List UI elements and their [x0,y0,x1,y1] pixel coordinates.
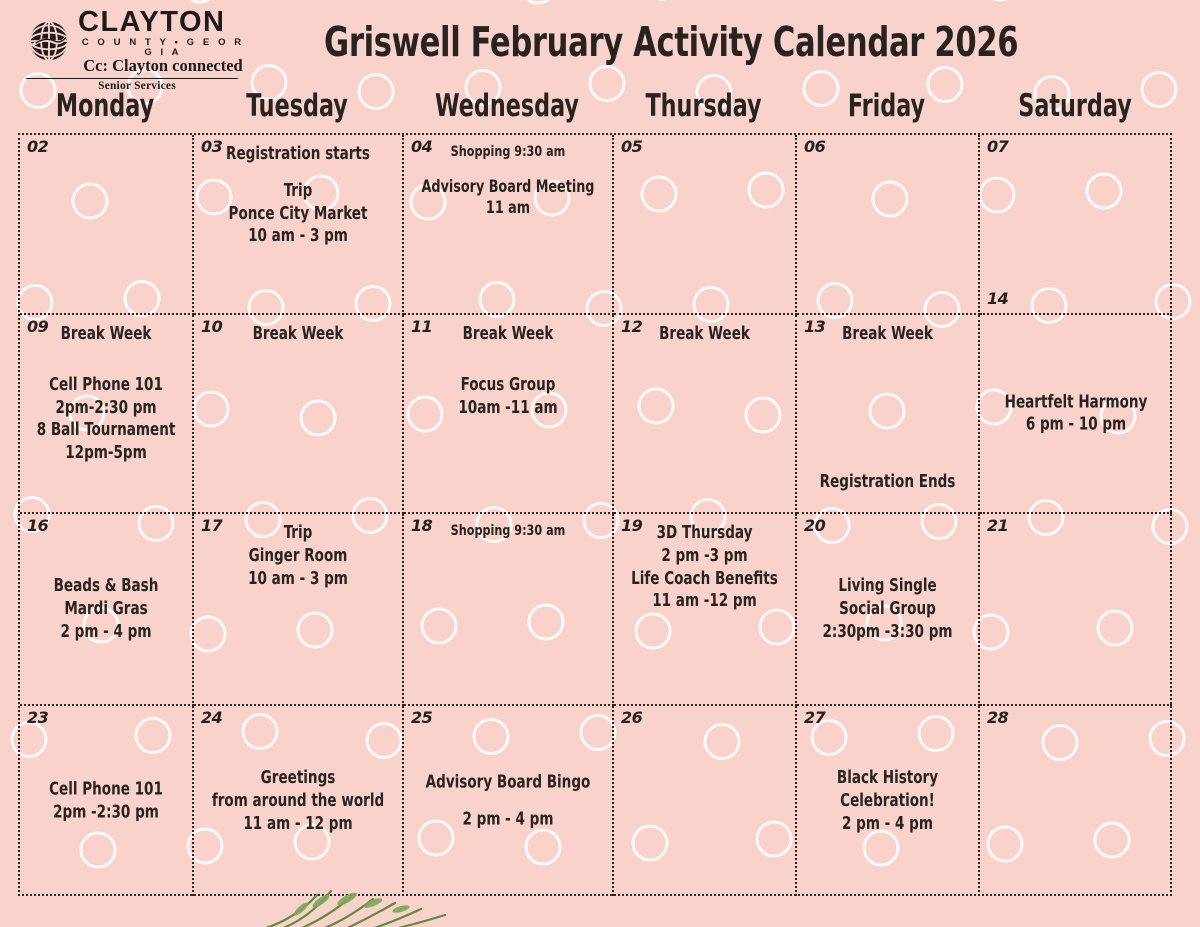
day-number: 05 [621,139,642,155]
day-number: 07 [987,139,1008,155]
day-number: 20 [804,518,825,534]
event-line: Cell Phone 101 [32,374,180,397]
event-spacer [32,346,180,360]
calendar-day-cell[interactable]: 21 [980,514,1172,706]
day-number: 26 [621,710,642,726]
page-title: Griswell February Activity Calendar 2026 [324,18,930,66]
day-events: Cell Phone 1012pm -2:30 pm [32,778,180,824]
calendar-day-cell[interactable]: 12Break Week [614,315,797,514]
event-line: Social Group [810,598,966,621]
day-events: TripGinger Room10 am - 3 pm [209,522,388,590]
calendar-header: CLAYTON C O U N T Y • G E O R G I A Cc: … [0,0,1200,88]
calendar-day-cell[interactable]: 10Break Week [194,315,404,514]
day-events: Shopping 9:30 am [419,522,598,541]
event-line: Advisory Board Meeting [419,176,598,197]
calendar-day-cell[interactable]: 20Living SingleSocial Group2:30pm -3:30 … [797,514,980,706]
event-line: Break Week [32,323,180,346]
event-line: Celebration! [810,790,966,813]
event-line: Trip [209,180,388,203]
day-number: 27 [804,710,825,726]
day-number: 23 [27,710,48,726]
day-number: 06 [804,139,825,155]
calendar-day-cell[interactable]: 03Registration startsTripPonce City Mark… [194,135,404,315]
event-line: 2:30pm -3:30 pm [810,620,966,643]
day-number: 24 [201,710,222,726]
day-events: Heartfelt Harmony6 pm - 10 pm [993,391,1158,437]
calendar-day-cell[interactable]: 16Beads & BashMardi Gras2 pm - 4 pm [20,514,194,706]
calendar-day-cell[interactable]: 13Break WeekRegistration Ends [797,315,980,514]
calendar-day-cell[interactable]: 24Greetingsfrom around the world11 am - … [194,706,404,896]
day-events: Break WeekFocus Group10am -11 am [419,323,598,419]
event-line: Registration Ends [810,471,966,494]
event-line: 11 am [419,197,598,218]
calendar-day-cell[interactable]: Heartfelt Harmony6 pm - 10 pm [980,315,1172,514]
event-line: Break Week [209,323,388,346]
event-line: Shopping 9:30 am [419,522,598,541]
day-events: Beads & BashMardi Gras2 pm - 4 pm [32,575,180,643]
event-line: Greetings [209,767,388,790]
day-events: Black HistoryCelebration!2 pm - 4 pm [810,767,966,835]
calendar-day-cell[interactable]: 27Black HistoryCelebration!2 pm - 4 pm [797,706,980,896]
event-line: Trip [209,522,388,545]
event-spacer [32,360,180,374]
event-line: Life Coach Benefits [627,568,783,591]
day-number-secondary: 14 [987,291,1008,307]
event-line: 10 am - 3 pm [209,225,388,248]
event-line: 3D Thursday [627,522,783,545]
event-line: 2pm-2:30 pm [32,397,180,420]
event-line: 2 pm -3 pm [627,545,783,568]
calendar-day-cell[interactable]: 26 [614,706,797,896]
day-events: Shopping 9:30 amAdvisory Board Meeting11… [419,143,598,219]
day-events: Break Week [627,323,783,346]
event-line: Break Week [810,323,966,346]
day-events: Advisory Board Bingo2 pm - 4 pm [419,771,598,831]
event-line: Break Week [419,323,598,346]
event-line: 2 pm - 4 pm [419,808,598,831]
day-header-friday: Friday [813,88,959,124]
event-line: Focus Group [419,374,598,397]
day-number: 16 [27,518,48,534]
event-line: 11 am -12 pm [627,590,783,613]
calendar-day-cell[interactable]: 06 [797,135,980,315]
day-number: 02 [27,139,48,155]
day-name-row: MondayTuesdayWednesdayThursdayFridaySatu… [0,88,1200,130]
event-line: 12pm-5pm [32,442,180,465]
event-spacer [209,166,388,180]
event-line: Cell Phone 101 [32,778,180,801]
calendar-day-cell[interactable]: 11Break WeekFocus Group10am -11 am [404,315,614,514]
calendar-day-cell[interactable]: 02 [20,135,194,315]
event-line: Beads & Bash [32,575,180,598]
calendar-day-cell[interactable]: 25Advisory Board Bingo2 pm - 4 pm [404,706,614,896]
event-spacer [419,360,598,374]
day-events: Registration startsTripPonce City Market… [209,143,388,248]
event-line: Ponce City Market [209,203,388,226]
calendar-day-cell[interactable]: 0714 [980,135,1172,315]
logo-divider [26,78,238,79]
calendar-day-cell[interactable]: 18Shopping 9:30 am [404,514,614,706]
event-line: Advisory Board Bingo [419,771,598,794]
event-line: Registration starts [209,143,388,166]
event-line: from around the world [209,790,388,813]
event-line: 2 pm - 4 pm [810,812,966,835]
calendar-day-cell[interactable]: 23Cell Phone 1012pm -2:30 pm [20,706,194,896]
day-header-tuesday: Tuesday [213,88,381,124]
logo-name: CLAYTON [78,8,248,37]
logo-tagline: Cc: Clayton connected [78,58,248,75]
event-line: Break Week [627,323,783,346]
day-header-monday: Monday [35,88,174,124]
calendar-day-cell[interactable]: 09Break WeekCell Phone 1012pm-2:30 pm8 B… [20,315,194,514]
event-line: 6 pm - 10 pm [993,414,1158,437]
event-line: Ginger Room [209,545,388,568]
clayton-county-logo: CLAYTON C O U N T Y • G E O R G I A Cc: … [26,8,248,92]
event-line: Living Single [810,575,966,598]
calendar-day-cell[interactable]: 28 [980,706,1172,896]
day-events: Living SingleSocial Group2:30pm -3:30 pm [810,575,966,643]
day-number: 28 [987,710,1008,726]
event-spacer [419,794,598,808]
day-events: Greetingsfrom around the world11 am - 12… [209,767,388,835]
event-spacer [419,162,598,176]
calendar-day-cell[interactable]: 17TripGinger Room10 am - 3 pm [194,514,404,706]
event-line: 10am -11 am [419,397,598,420]
event-spacer [419,346,598,360]
day-header-thursday: Thursday [630,88,776,124]
day-events: Registration Ends [810,471,966,494]
day-events: Break Week [209,323,388,346]
event-line: 8 Ball Tournament [32,419,180,442]
day-header-wednesday: Wednesday [423,88,591,124]
event-line: Shopping 9:30 am [419,143,598,162]
calendar-day-cell[interactable]: 05 [614,135,797,315]
globe-icon [26,18,72,64]
day-header-saturday: Saturday [997,88,1152,124]
day-number: 21 [987,518,1008,534]
logo-subtitle: C O U N T Y • G E O R G I A [78,38,248,57]
event-line: Heartfelt Harmony [993,391,1158,414]
event-line: 2pm -2:30 pm [32,801,180,824]
calendar-day-cell[interactable]: 04Shopping 9:30 amAdvisory Board Meeting… [404,135,614,315]
event-line: 2 pm - 4 pm [32,620,180,643]
event-line: Mardi Gras [32,598,180,621]
event-line: Black History [810,767,966,790]
event-line: 10 am - 3 pm [209,568,388,591]
day-events: Break WeekCell Phone 1012pm-2:30 pm8 Bal… [32,323,180,465]
calendar-page: CLAYTON C O U N T Y • G E O R G I A Cc: … [0,0,1200,927]
calendar-grid: 0203Registration startsTripPonce City Ma… [18,133,1172,896]
event-line: 11 am - 12 pm [209,812,388,835]
calendar-day-cell[interactable]: 193D Thursday2 pm -3 pmLife Coach Benefi… [614,514,797,706]
day-events: 3D Thursday2 pm -3 pmLife Coach Benefits… [627,522,783,613]
day-events: Break Week [810,323,966,346]
day-number: 25 [411,710,432,726]
